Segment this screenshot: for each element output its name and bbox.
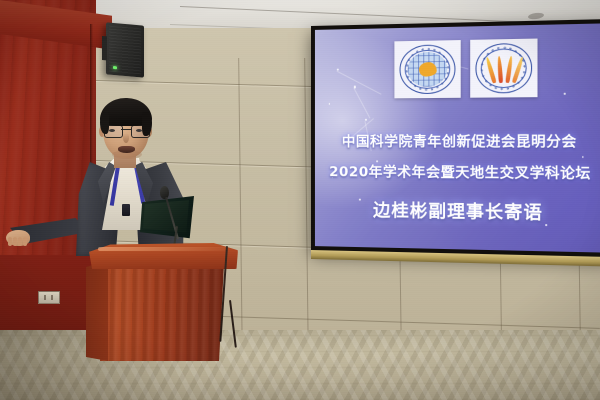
slide-title-line-1: 中国科学院青年创新促进会昆明分会 bbox=[315, 130, 600, 151]
speaker-led-indicator bbox=[113, 66, 117, 69]
podium-top-highlight bbox=[98, 247, 226, 251]
speaker-hand bbox=[6, 230, 30, 246]
podium bbox=[86, 243, 238, 361]
mouth bbox=[118, 146, 135, 153]
hair-side-left bbox=[100, 112, 109, 134]
wall-speaker bbox=[106, 22, 144, 77]
speaker-bracket bbox=[102, 36, 107, 60]
podium-wood-grain bbox=[100, 259, 224, 361]
slide-subtitle: 边桂彬副理事长寄语 bbox=[315, 195, 600, 225]
logo-flame-emblem: 中中中中中中中中中中中中中中中中中中中中中中 bbox=[470, 38, 538, 97]
gooseneck-microphone bbox=[160, 186, 190, 244]
slide-title-line-2: 2020年学术年会暨天地生交叉学科论坛 bbox=[315, 160, 600, 183]
logo-rim-text: 中中中中中中中中中中中中中中中中中中中中中中 bbox=[395, 40, 461, 98]
ceiling-vent bbox=[528, 12, 545, 20]
logo-rim-text: 中中中中中中中中中中中中中中中中中中中中中中 bbox=[470, 38, 538, 97]
podium-side-panel bbox=[86, 261, 108, 361]
projection-screen: 中中中中中中中中中中中中中中中中中中中中中中 中中中中中中中中中中中中中中中中中… bbox=[311, 19, 600, 257]
nose bbox=[123, 133, 129, 143]
photo-scene: 中中中中中中中中中中中中中中中中中中中中中中 中中中中中中中中中中中中中中中中中… bbox=[0, 0, 600, 400]
podium-body bbox=[100, 259, 224, 361]
wall-outlet bbox=[38, 291, 60, 304]
eyeglasses-bridge bbox=[121, 129, 131, 130]
name-badge bbox=[122, 204, 130, 216]
logo-globe-emblem: 中中中中中中中中中中中中中中中中中中中中中中 bbox=[395, 40, 461, 98]
screen-surface: 中中中中中中中中中中中中中中中中中中中中中中 中中中中中中中中中中中中中中中中中… bbox=[315, 23, 600, 252]
